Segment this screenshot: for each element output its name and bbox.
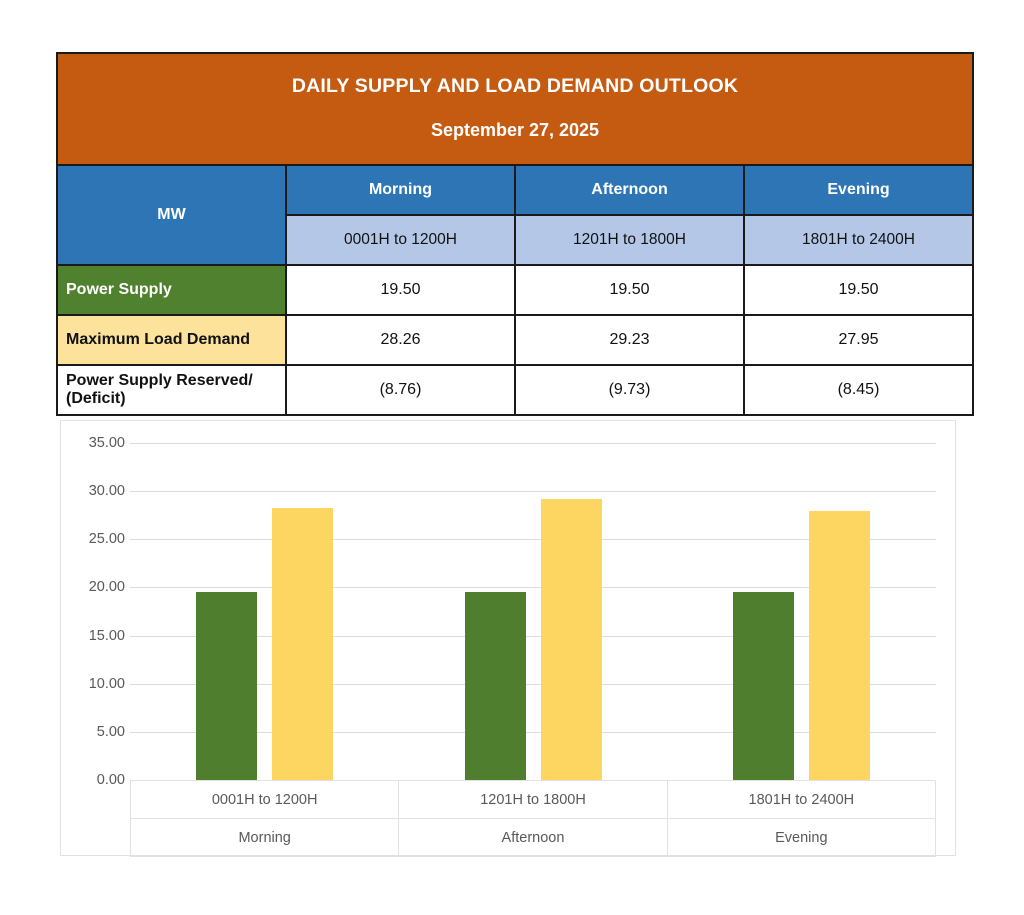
cell-reserve-evening: (8.45): [744, 365, 973, 415]
chart-y-tick-label: 0.00: [65, 772, 125, 788]
table-row: Power Supply 19.50 19.50 19.50: [57, 265, 973, 315]
supply-demand-table: DAILY SUPPLY AND LOAD DEMAND OUTLOOK Sep…: [56, 52, 974, 416]
supply-demand-bar-chart: 0.005.0010.0015.0020.0025.0030.0035.00 0…: [60, 420, 956, 856]
report-date: September 27, 2025: [66, 120, 964, 142]
row-label-power-supply-reserved: Power Supply Reserved/ (Deficit): [57, 365, 286, 415]
chart-category-group-row: Morning Afternoon Evening: [131, 819, 936, 857]
chart-plot-area: [130, 443, 936, 780]
chart-y-tick-label: 20.00: [65, 579, 125, 595]
hours-header-morning: 0001H to 1200H: [286, 215, 515, 265]
hours-header-afternoon: 1201H to 1800H: [515, 215, 744, 265]
table-period-header-row: MW Morning Afternoon Evening: [57, 165, 973, 215]
chart-cat-group-1: Afternoon: [399, 819, 667, 857]
chart-bar-max-load-demand: [809, 511, 870, 780]
unit-header-cell: MW: [57, 165, 286, 265]
chart-bar-power-supply: [733, 592, 794, 780]
chart-gridline: [130, 443, 936, 444]
chart-bar-power-supply: [465, 592, 526, 780]
period-header-evening: Evening: [744, 165, 973, 215]
period-header-morning: Morning: [286, 165, 515, 215]
chart-y-tick-label: 25.00: [65, 531, 125, 547]
hours-header-evening: 1801H to 2400H: [744, 215, 973, 265]
chart-y-tick-label: 15.00: [65, 628, 125, 644]
cell-reserve-morning: (8.76): [286, 365, 515, 415]
cell-max-load-evening: 27.95: [744, 315, 973, 365]
cell-reserve-afternoon: (9.73): [515, 365, 744, 415]
report-page: DAILY SUPPLY AND LOAD DEMAND OUTLOOK Sep…: [0, 0, 1024, 915]
cell-power-supply-afternoon: 19.50: [515, 265, 744, 315]
table-row: Maximum Load Demand 28.26 29.23 27.95: [57, 315, 973, 365]
chart-gridline: [130, 491, 936, 492]
chart-y-tick-label: 10.00: [65, 676, 125, 692]
report-title: DAILY SUPPLY AND LOAD DEMAND OUTLOOK: [66, 75, 964, 98]
cell-max-load-morning: 28.26: [286, 315, 515, 365]
chart-cat-hours-1: 1201H to 1800H: [399, 781, 667, 819]
table-title-row: DAILY SUPPLY AND LOAD DEMAND OUTLOOK Sep…: [57, 53, 973, 165]
chart-bar-max-load-demand: [272, 508, 333, 780]
cell-power-supply-evening: 19.50: [744, 265, 973, 315]
period-header-afternoon: Afternoon: [515, 165, 744, 215]
chart-category-hours-row: 0001H to 1200H 1201H to 1800H 1801H to 2…: [131, 781, 936, 819]
cell-power-supply-morning: 19.50: [286, 265, 515, 315]
table-row: Power Supply Reserved/ (Deficit) (8.76) …: [57, 365, 973, 415]
chart-y-tick-label: 35.00: [65, 435, 125, 451]
row-label-maximum-load-demand: Maximum Load Demand: [57, 315, 286, 365]
row-label-power-supply: Power Supply: [57, 265, 286, 315]
cell-max-load-afternoon: 29.23: [515, 315, 744, 365]
chart-cat-group-0: Morning: [131, 819, 399, 857]
chart-y-tick-label: 30.00: [65, 483, 125, 499]
chart-y-axis: 0.005.0010.0015.0020.0025.0030.0035.00: [61, 443, 125, 780]
report-title-cell: DAILY SUPPLY AND LOAD DEMAND OUTLOOK Sep…: [57, 53, 973, 165]
chart-bar-max-load-demand: [541, 499, 602, 780]
chart-y-tick-label: 5.00: [65, 724, 125, 740]
chart-bar-power-supply: [196, 592, 257, 780]
chart-category-axis: 0001H to 1200H 1201H to 1800H 1801H to 2…: [130, 780, 936, 857]
chart-cat-hours-2: 1801H to 2400H: [667, 781, 935, 819]
chart-cat-group-2: Evening: [667, 819, 935, 857]
chart-cat-hours-0: 0001H to 1200H: [131, 781, 399, 819]
